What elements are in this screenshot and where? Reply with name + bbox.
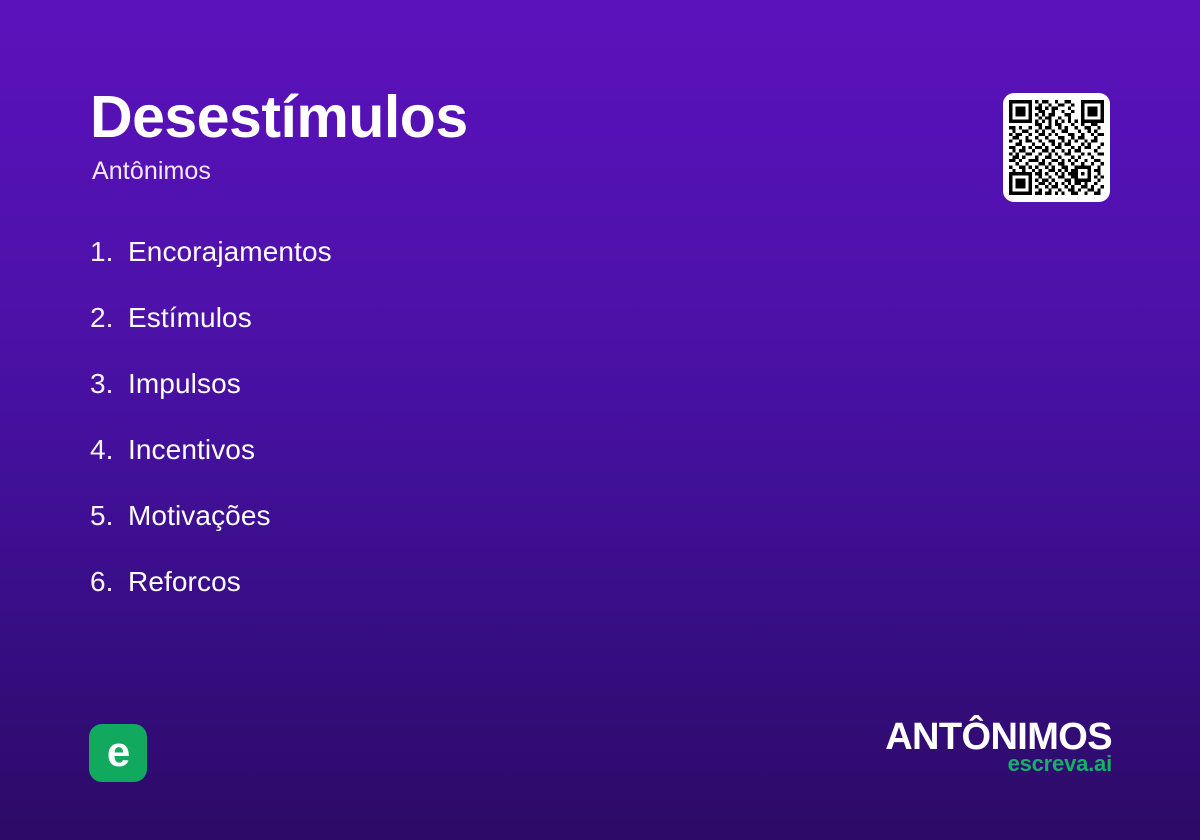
list-item-index: 6. xyxy=(90,568,128,596)
list-item-index: 4. xyxy=(90,436,128,464)
list-item: 1. Encorajamentos xyxy=(90,238,910,304)
list-item-label: Encorajamentos xyxy=(128,238,332,266)
footer-wordmark: ANTÔNIMOS escreva.ai xyxy=(852,718,1112,775)
escreva-logo-badge: e xyxy=(89,724,147,782)
list-item-index: 2. xyxy=(90,304,128,332)
list-item: 4. Incentivos xyxy=(90,436,910,502)
header: Desestímulos Antônimos xyxy=(90,88,910,184)
qr-code[interactable] xyxy=(1003,93,1110,202)
list-item-label: Motivações xyxy=(128,502,271,530)
badge-letter: e xyxy=(107,731,129,773)
list-item-index: 3. xyxy=(90,370,128,398)
antonyms-list: 1. Encorajamentos 2. Estímulos 3. Impuls… xyxy=(90,238,910,634)
list-item-label: Incentivos xyxy=(128,436,255,464)
page-title: Desestímulos xyxy=(90,88,910,147)
list-item: 3. Impulsos xyxy=(90,370,910,436)
list-item: 6. Reforcos xyxy=(90,568,910,634)
list-item-index: 1. xyxy=(90,238,128,266)
antonyms-card: Desestímulos Antônimos xyxy=(0,0,1200,840)
list-item-label: Estímulos xyxy=(128,304,252,332)
page-subtitle: Antônimos xyxy=(92,159,910,184)
list-item-label: Impulsos xyxy=(128,370,241,398)
list-item-label: Reforcos xyxy=(128,568,241,596)
list-item: 5. Motivações xyxy=(90,502,910,568)
list-item-index: 5. xyxy=(90,502,128,530)
list-item: 2. Estímulos xyxy=(90,304,910,370)
